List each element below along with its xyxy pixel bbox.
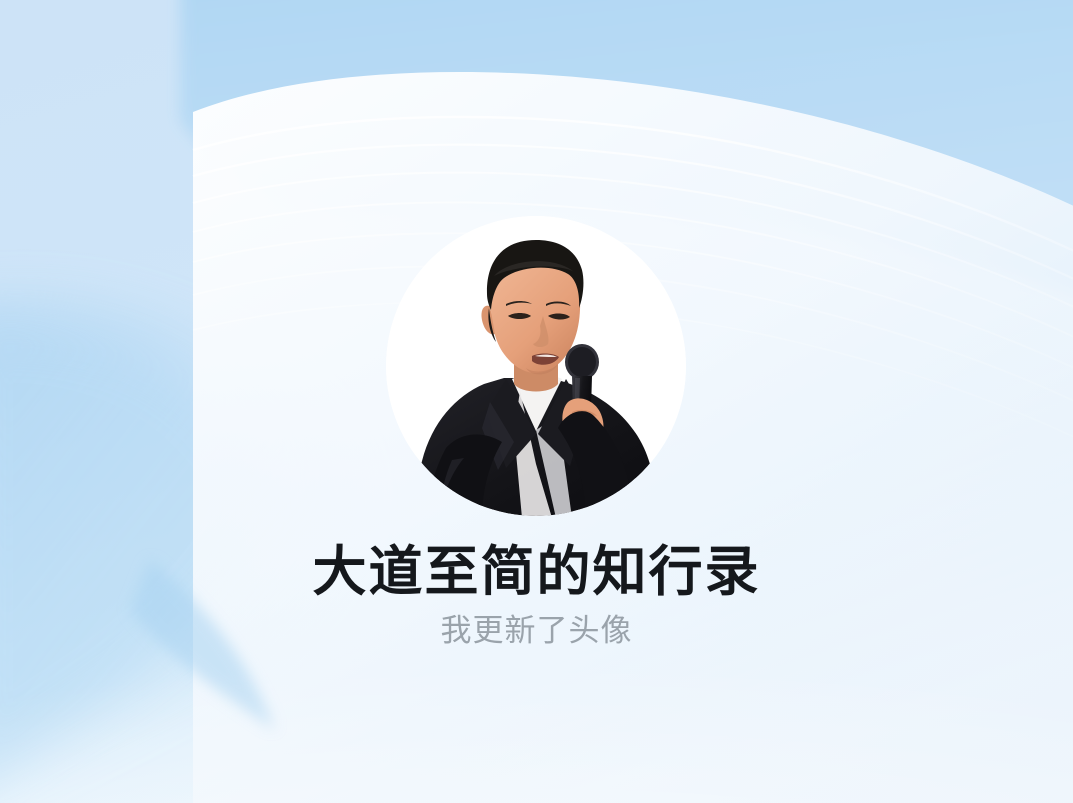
- status-subtitle: 我更新了头像: [0, 612, 1073, 649]
- hand-lower: [617, 491, 648, 516]
- profile-update-screen: 大道至简的知行录 我更新了头像: [0, 0, 1073, 803]
- avatar-portrait-illustration: [386, 216, 686, 516]
- profile-content: 大道至简的知行录 我更新了头像: [0, 0, 1073, 803]
- avatar[interactable]: [386, 216, 686, 516]
- page-title: 大道至简的知行录: [0, 543, 1073, 601]
